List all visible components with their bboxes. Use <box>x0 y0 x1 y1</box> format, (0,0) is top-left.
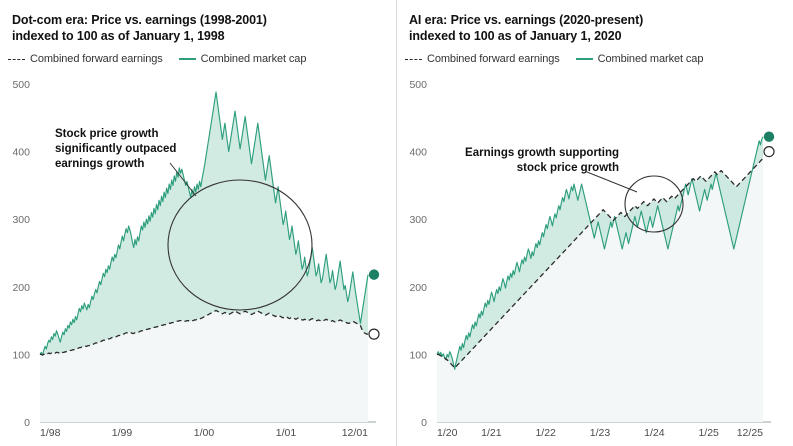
svg-text:stock price growth: stock price growth <box>517 162 619 174</box>
dual-chart-figure: Dot-com era: Price vs. earnings (1998-20… <box>0 0 793 446</box>
svg-text:100: 100 <box>12 349 30 361</box>
svg-text:500: 500 <box>12 79 30 91</box>
svg-text:12/01: 12/01 <box>342 427 368 439</box>
svg-text:12/25: 12/25 <box>737 427 763 439</box>
svg-text:300: 300 <box>12 214 30 226</box>
svg-text:1/00: 1/00 <box>194 427 215 439</box>
svg-text:400: 400 <box>12 147 30 159</box>
svg-text:500: 500 <box>409 79 427 91</box>
svg-text:Stock price growth: Stock price growth <box>55 128 159 140</box>
svg-text:100: 100 <box>409 349 427 361</box>
plot-area-right: 01002003004005001/201/211/221/231/241/25… <box>397 0 793 446</box>
svg-text:earnings growth: earnings growth <box>55 158 144 170</box>
svg-text:200: 200 <box>409 282 427 294</box>
chart-panel-dotcom: Dot-com era: Price vs. earnings (1998-20… <box>0 0 396 446</box>
svg-text:1/22: 1/22 <box>535 427 556 439</box>
svg-text:200: 200 <box>12 282 30 294</box>
svg-text:1/20: 1/20 <box>437 427 458 439</box>
svg-text:1/24: 1/24 <box>644 427 665 439</box>
chart-svg-left: 01002003004005001/981/991/001/0112/01Sto… <box>0 0 396 446</box>
svg-text:significantly outpaced: significantly outpaced <box>55 143 176 155</box>
svg-text:0: 0 <box>24 417 30 429</box>
chart-panel-ai: AI era: Price vs. earnings (2020-present… <box>396 0 792 446</box>
svg-text:1/23: 1/23 <box>590 427 611 439</box>
chart-svg-right: 01002003004005001/201/211/221/231/241/25… <box>397 0 793 446</box>
svg-text:400: 400 <box>409 147 427 159</box>
svg-text:1/21: 1/21 <box>481 427 502 439</box>
plot-area-left: 01002003004005001/981/991/001/0112/01Sto… <box>0 0 396 446</box>
svg-text:1/01: 1/01 <box>276 427 297 439</box>
svg-text:1/98: 1/98 <box>40 427 61 439</box>
svg-text:Earnings growth supporting: Earnings growth supporting <box>465 147 619 159</box>
svg-text:1/99: 1/99 <box>112 427 133 439</box>
svg-text:1/25: 1/25 <box>698 427 719 439</box>
svg-text:300: 300 <box>409 214 427 226</box>
svg-text:0: 0 <box>421 417 427 429</box>
